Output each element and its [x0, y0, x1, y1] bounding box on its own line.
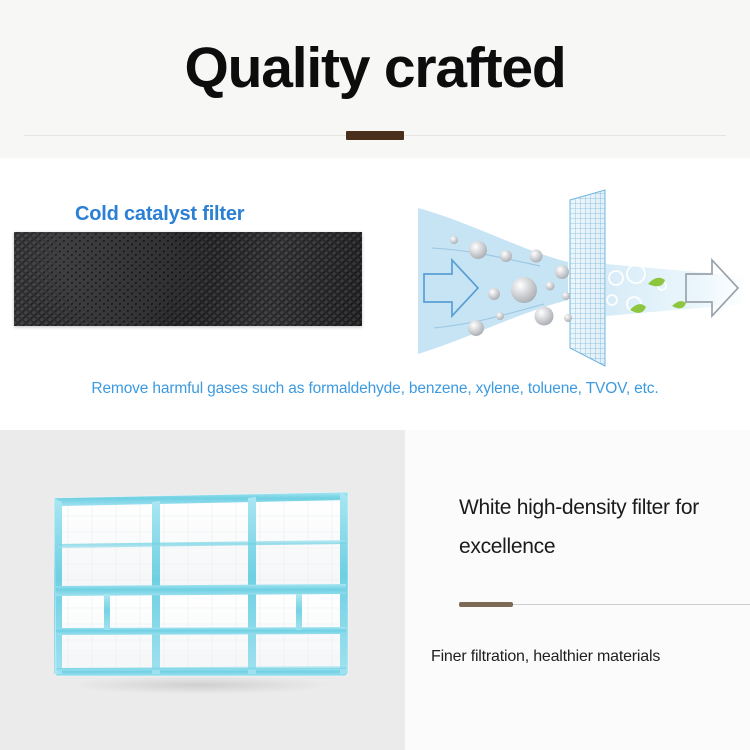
filter-mesh-screen: [570, 190, 605, 366]
page-header: Quality crafted: [0, 0, 750, 158]
cold-catalyst-filter-section: Cold catalyst filter: [0, 158, 750, 430]
divider-thin-line: [513, 604, 750, 605]
airflow-filtration-diagram: [400, 188, 750, 368]
high-density-filter-subtext: Finer filtration, healthier materials: [431, 648, 660, 666]
frame-shadow: [70, 676, 330, 694]
dirty-airflow-cone: [418, 208, 568, 354]
high-density-filter-text-panel: White high-density filter for excellence…: [405, 430, 750, 750]
header-accent-bar: [346, 131, 404, 140]
honeycomb-shading-overlay: [14, 232, 362, 326]
cold-catalyst-filter-heading: Cold catalyst filter: [75, 203, 244, 226]
white-high-density-filter-frame-image: [48, 482, 358, 697]
text-divider: [459, 602, 750, 607]
divider-accent-segment: [459, 602, 513, 607]
filter-frame-image-panel: [0, 430, 405, 750]
high-density-filter-section: White high-density filter for excellence…: [0, 430, 750, 750]
high-density-filter-heading: White high-density filter for excellence: [459, 488, 739, 566]
page-title: Quality crafted: [0, 32, 750, 104]
black-honeycomb-filter-image: [14, 232, 362, 326]
cold-catalyst-filter-caption: Remove harmful gases such as formaldehyd…: [0, 380, 750, 398]
